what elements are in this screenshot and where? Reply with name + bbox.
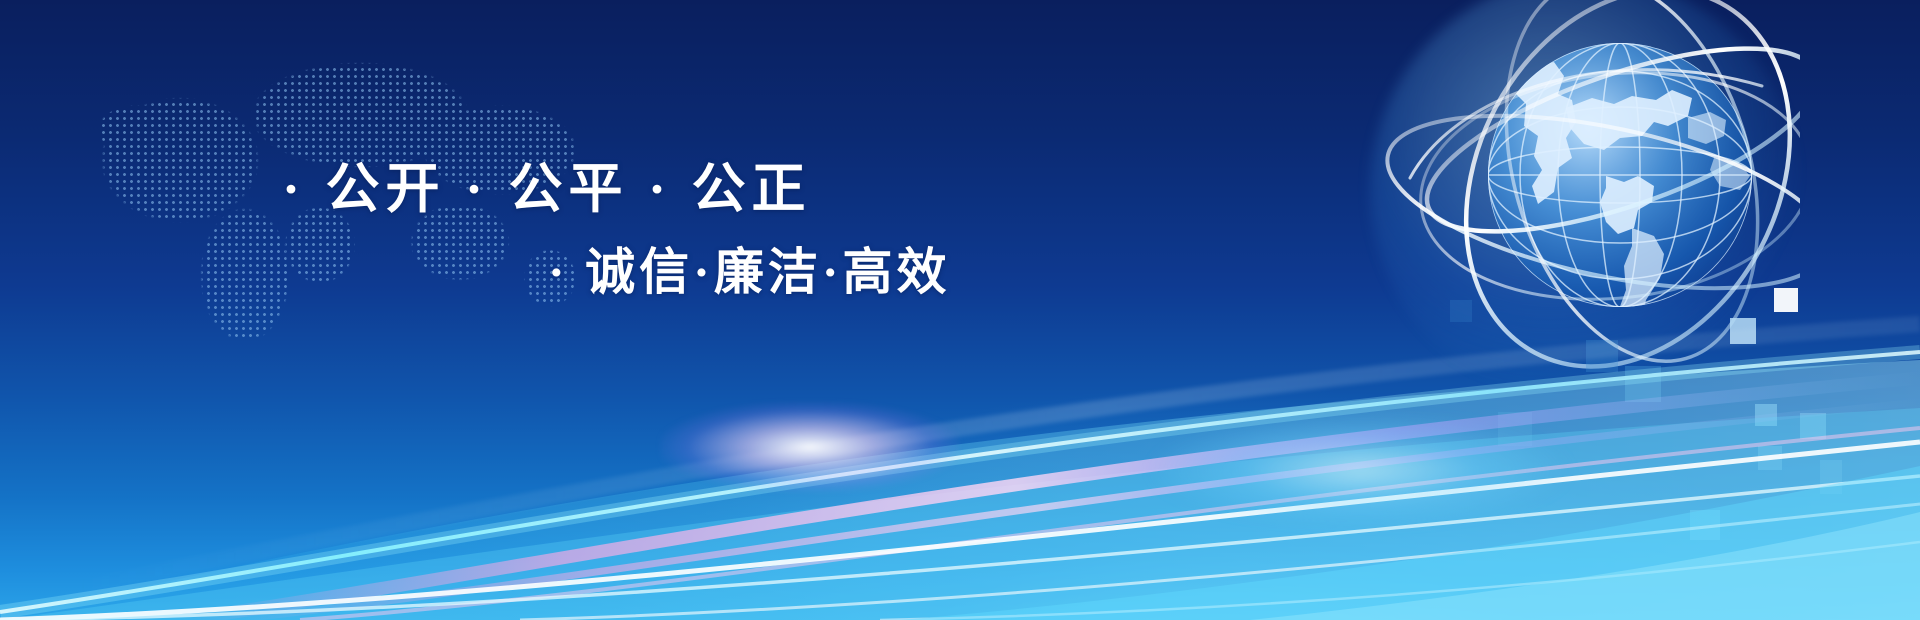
wave-highlight-glow — [660, 402, 960, 492]
slogan-line-1: · 公开 · 公平 · 公正 — [282, 144, 812, 223]
headline-block: · 公开 · 公平 · 公正 · 诚信·廉洁·高效 — [0, 0, 1140, 330]
light-wave-streaks-icon — [0, 290, 1920, 620]
promotional-banner: · 公开 · 公平 · 公正 · 诚信·廉洁·高效 — [0, 0, 1920, 620]
slogan-line-2: · 诚信·廉洁·高效 — [548, 232, 951, 304]
wave-highlight-glow-right — [1150, 415, 1570, 525]
